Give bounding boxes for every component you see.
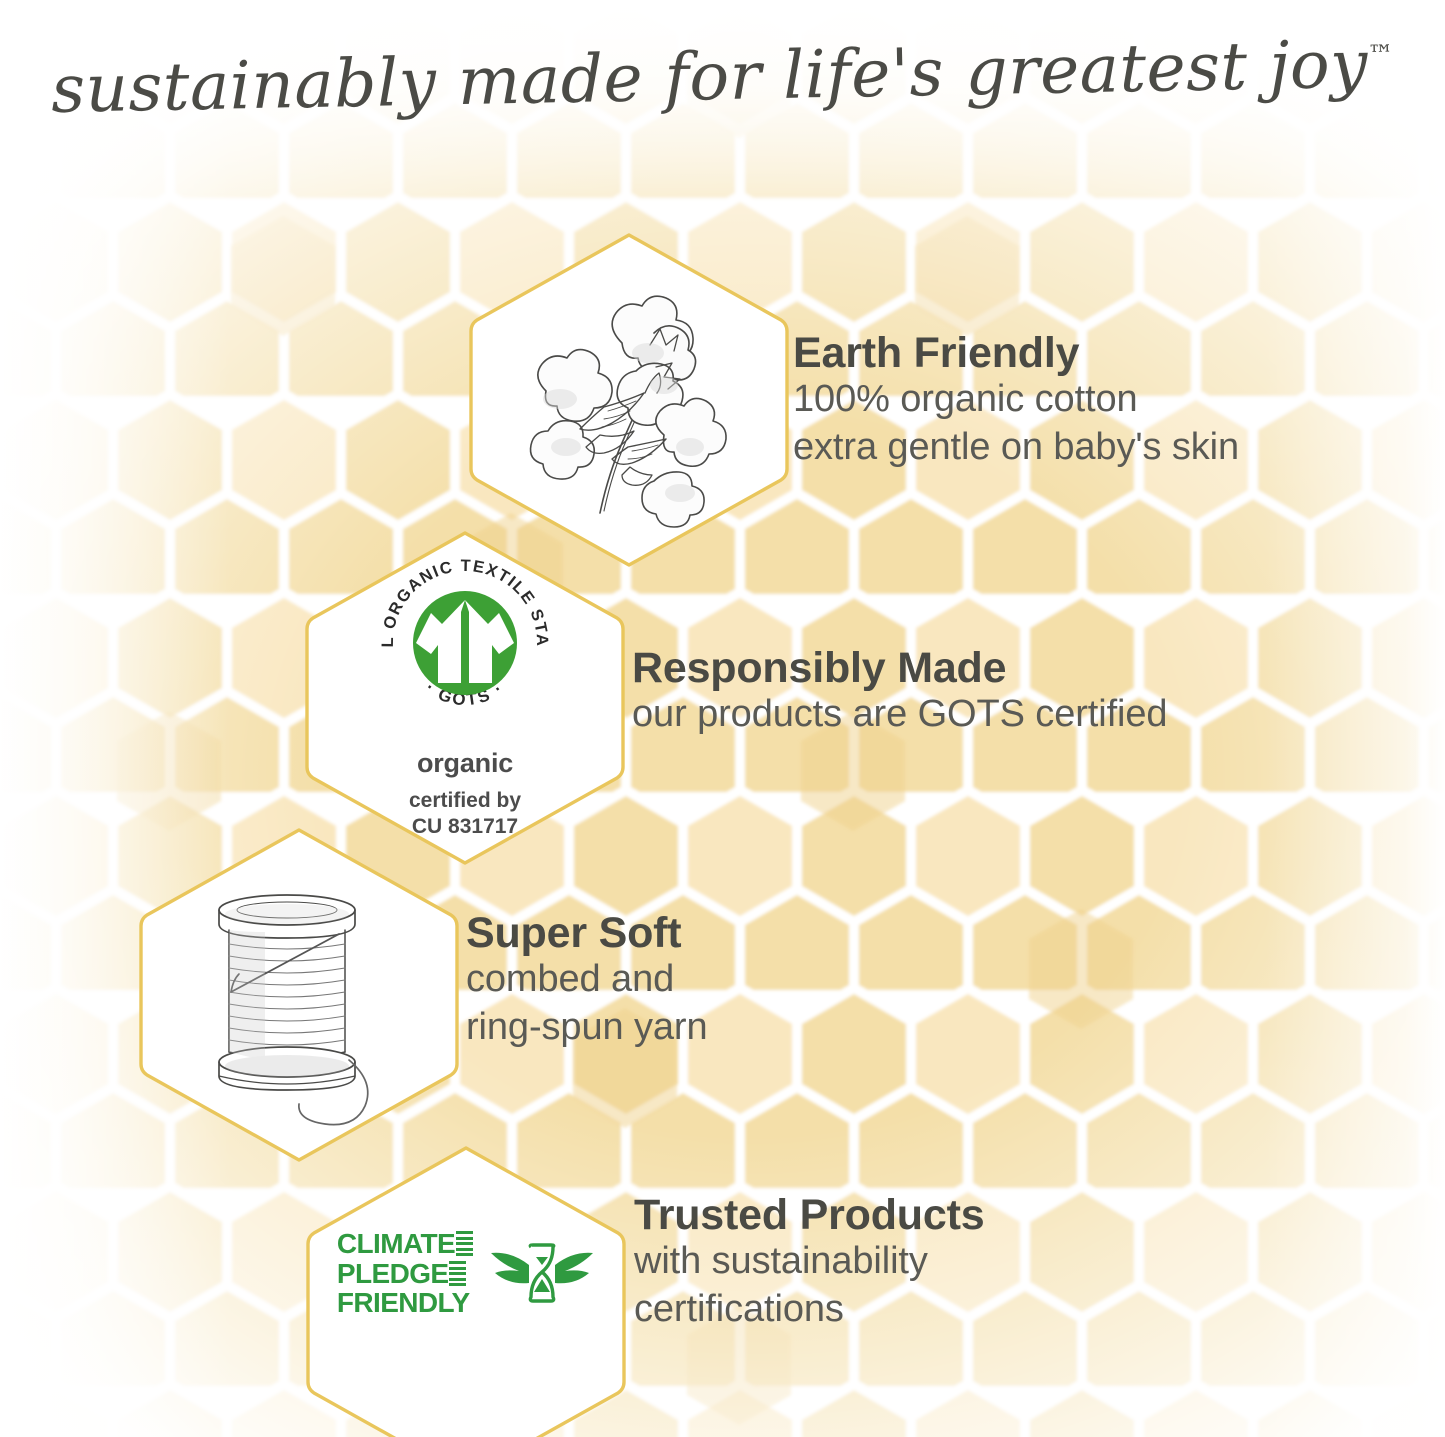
hex-card-earth-friendly bbox=[466, 230, 792, 570]
feature-title: Super Soft bbox=[466, 910, 708, 956]
feature-desc-line: ring-spun yarn bbox=[466, 1004, 708, 1052]
feature-title: Responsibly Made bbox=[632, 645, 1167, 691]
headline-text: sustainably made for life's greatest joy bbox=[50, 26, 1368, 128]
feature-text-responsibly-made: Responsibly Made our products are GOTS c… bbox=[632, 645, 1167, 739]
infographic-page: sustainably made for life's greatest joy… bbox=[0, 0, 1445, 1437]
thread-spool-sketch-icon bbox=[169, 870, 419, 1120]
gots-organic-label: organic bbox=[372, 748, 558, 779]
climate-pledge-friendly-icon: CLIMATE PLEDGE FRIENDLY bbox=[337, 1229, 595, 1318]
cpf-bars-icon bbox=[449, 1261, 466, 1286]
hex-card-trusted-products: CLIMATE PLEDGE FRIENDLY bbox=[303, 1143, 629, 1437]
cpf-line-3: FRIENDLY bbox=[337, 1288, 470, 1318]
cpf-bars-icon bbox=[456, 1231, 473, 1256]
feature-desc-line: our products are GOTS certified bbox=[632, 691, 1167, 739]
trademark-symbol: ™ bbox=[1367, 40, 1394, 70]
cotton-branch-sketch-icon bbox=[504, 275, 754, 525]
winged-hourglass-icon bbox=[489, 1241, 595, 1307]
gots-certification-icon: GLOBAL ORGANIC TEXTILE STANDARD · GOTS ·… bbox=[372, 550, 558, 839]
feature-title: Trusted Products bbox=[634, 1192, 984, 1238]
feature-desc-line: combed and bbox=[466, 956, 708, 1004]
feature-desc-line: 100% organic cotton bbox=[793, 376, 1239, 424]
feature-text-earth-friendly: Earth Friendly 100% organic cotton extra… bbox=[793, 330, 1239, 472]
feature-text-trusted-products: Trusted Products with sustainability cer… bbox=[634, 1192, 984, 1334]
feature-desc-line: certifications bbox=[634, 1286, 984, 1334]
hex-card-responsibly-made: GLOBAL ORGANIC TEXTILE STANDARD · GOTS ·… bbox=[302, 528, 628, 868]
feature-desc-line: extra gentle on baby's skin bbox=[793, 424, 1239, 472]
feature-title: Earth Friendly bbox=[793, 330, 1239, 376]
cpf-line-2: PLEDGE bbox=[337, 1259, 449, 1289]
hex-card-super-soft bbox=[136, 825, 462, 1165]
cpf-line-1: CLIMATE bbox=[337, 1229, 455, 1259]
feature-text-super-soft: Super Soft combed and ring-spun yarn bbox=[466, 910, 708, 1052]
feature-desc-line: with sustainability bbox=[634, 1238, 984, 1286]
gots-certified-by-line1: certified by bbox=[372, 788, 558, 814]
page-headline: sustainably made for life's greatest joy… bbox=[0, 24, 1445, 129]
